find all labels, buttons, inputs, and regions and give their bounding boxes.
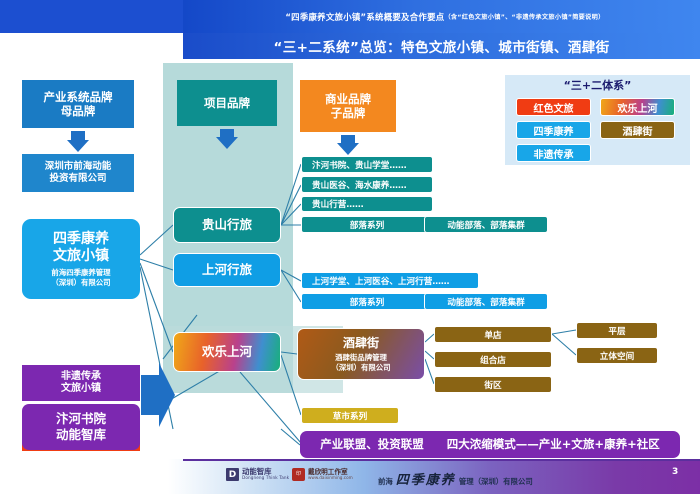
guishan-subbrand-1[interactable]: 汴河书院、贵山学堂…… <box>301 156 433 173</box>
footer-corp-prefix: 前海 <box>378 476 393 487</box>
logo-dongneng: D 动能智库 Dongneng Think Tank <box>226 468 289 481</box>
huanleshanghe-box[interactable]: 欢乐上河 <box>173 332 281 372</box>
header-caption: “四季康养文旅小镇”系统概要及合作要点 （含“红色文旅小镇”、“非遗传承文旅小镇… <box>195 0 695 33</box>
caoshi-series-chip[interactable]: 草市系列 <box>301 407 399 424</box>
page-title: “三+二系统”总览：特色文旅小镇、城市街镇、酒肆街 <box>273 36 609 56</box>
shanghe-tribe-detail[interactable]: 动能部落、部落集群 <box>424 293 548 310</box>
footer-corp-name: 前海 四季康养 管理（深圳）有限公司 <box>378 469 533 488</box>
daixinming-logo-url: www.daixinming.com <box>308 476 353 480</box>
commercial-brand-line2: 子品牌 <box>331 106 366 120</box>
alliance-label: 产业联盟、投资联盟 四大浓缩模式——产业+文旅+康养+社区 <box>320 437 659 451</box>
guishan-travel-box[interactable]: 贵山行旅 <box>173 207 281 243</box>
legend-item-feiyichuancheng[interactable]: 非遗传承 <box>516 144 591 162</box>
commercial-brand-line1: 商业品牌 <box>325 92 371 106</box>
feiyi-line2: 文旅小镇 <box>61 383 101 396</box>
bianhe-line1: 汴河书院 <box>56 411 106 427</box>
feiyi-town-box[interactable]: 非遗传承 文旅小镇 <box>22 365 140 401</box>
guishan-label: 贵山行旅 <box>202 217 252 233</box>
title-left-block <box>0 33 183 59</box>
parent-brand-line2: 母品牌 <box>61 104 96 118</box>
dandian-detail-liti[interactable]: 立体空间 <box>576 347 658 364</box>
jiusijie-format-zuhedian[interactable]: 组合店 <box>434 351 552 368</box>
footer-corp-brush: 四季康养 <box>396 469 456 488</box>
qianhai-line2: 投资有限公司 <box>49 173 106 185</box>
shanghe-subbrand-1[interactable]: 上河学堂、上河医谷、上河行营…… <box>301 272 479 289</box>
sijikangyang-sub-line1: 前海四季康养管理 <box>51 268 110 278</box>
legend-item-huanleshanghe[interactable]: 欢乐上河 <box>600 98 675 116</box>
sijikangyang-sub-line2: （深圳）有限公司 <box>51 278 110 288</box>
jiusijie-format-jiequ[interactable]: 街区 <box>434 376 552 393</box>
parent-brand-line1: 产业系统品牌 <box>44 90 113 104</box>
legend-item-hongsewenlv[interactable]: 红色文旅 <box>516 98 591 116</box>
bianhe-academy-box[interactable]: 汴河书院 动能智库 <box>22 404 140 450</box>
qianhai-investment-box[interactable]: 深圳市前海动能 投资有限公司 <box>22 154 134 192</box>
jiusijie-title: 酒肆街 <box>343 336 379 351</box>
dongneng-logo-en: Dongneng Think Tank <box>242 476 289 480</box>
guishan-subbrand-4[interactable]: 部落系列 <box>301 216 433 233</box>
qianhai-line1: 深圳市前海动能 <box>45 161 112 173</box>
logo-daixinming: 印 戴欣明工作室 www.daixinming.com <box>292 468 353 481</box>
header-sub-text: （含“红色文旅小镇”、“非遗传承文旅小镇”简要说明） <box>444 12 604 21</box>
project-brand-box[interactable]: 项目品牌 <box>177 80 277 126</box>
header-left-block <box>0 0 183 33</box>
jiusijie-box[interactable]: 酒肆街 酒肆街品牌管理 （深圳）有限公司 <box>297 328 425 380</box>
dongneng-logo-icon: D <box>226 468 239 481</box>
sijikangyang-title-line1: 四季康养 <box>53 231 109 249</box>
feiyi-line1: 非遗传承 <box>61 371 101 384</box>
sijikangyang-title-line2: 文旅小镇 <box>53 248 109 266</box>
daixinming-seal-icon: 印 <box>292 468 305 481</box>
jiusijie-sub-line2: （深圳）有限公司 <box>331 363 390 373</box>
legend-item-sijikangyang[interactable]: 四季康养 <box>516 121 591 139</box>
shanghe-label: 上河行旅 <box>202 262 252 278</box>
shanghe-subbrand-2[interactable]: 部落系列 <box>301 293 433 310</box>
shanghe-travel-box[interactable]: 上河行旅 <box>173 253 281 287</box>
jiusijie-format-dandian[interactable]: 单店 <box>434 326 552 343</box>
guishan-tribe-detail[interactable]: 动能部落、部落集群 <box>424 216 548 233</box>
parent-brand-box[interactable]: 产业系统品牌 母品牌 <box>22 80 134 128</box>
jiusijie-sub-line1: 酒肆街品牌管理 <box>335 353 387 363</box>
alliance-banner[interactable]: 产业联盟、投资联盟 四大浓缩模式——产业+文旅+康养+社区 <box>300 431 680 458</box>
huanle-label: 欢乐上河 <box>202 344 252 360</box>
project-brand-label: 项目品牌 <box>204 96 250 110</box>
guishan-subbrand-3[interactable]: 贵山行营…… <box>301 196 433 212</box>
slide: “四季康养文旅小镇”系统概要及合作要点 （含“红色文旅小镇”、“非遗传承文旅小镇… <box>0 0 700 494</box>
big-right-arrow-icon <box>141 359 175 431</box>
page-number: 3 <box>672 467 678 477</box>
sijikangyang-town-box[interactable]: 四季康养 文旅小镇 前海四季康养管理 （深圳）有限公司 <box>22 219 140 299</box>
slide-title-bar: “三+二系统”总览：特色文旅小镇、城市街镇、酒肆街 <box>183 33 700 59</box>
diagram-canvas: 产业系统品牌 母品牌 深圳市前海动能 投资有限公司 四季康养 文旅小镇 前海四季… <box>0 59 700 459</box>
legend-item-jiusijie[interactable]: 酒肆街 <box>600 121 675 139</box>
footer-top-rule <box>183 459 700 461</box>
bianhe-line2: 动能智库 <box>56 427 106 443</box>
header-main-text: “四季康养文旅小镇”系统概要及合作要点 <box>285 11 444 23</box>
dandian-detail-pingceng[interactable]: 平层 <box>576 322 658 339</box>
legend-title: “三+二体系” <box>505 75 690 95</box>
guishan-subbrand-2[interactable]: 贵山医谷、海水康养…… <box>301 176 433 193</box>
footer-corp-suffix: 管理（深圳）有限公司 <box>459 476 533 487</box>
commercial-brand-box[interactable]: 商业品牌 子品牌 <box>300 80 396 132</box>
